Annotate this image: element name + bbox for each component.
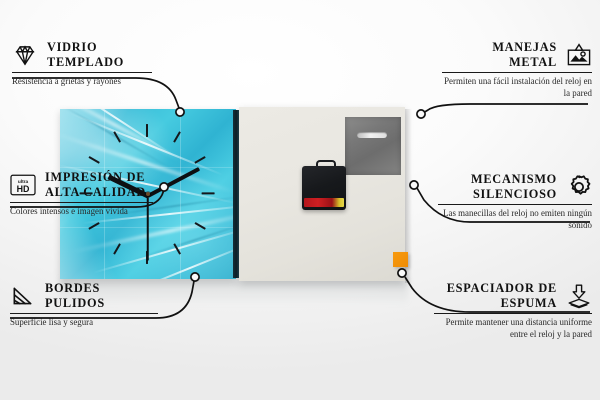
diamond-icon [12, 42, 38, 68]
polished-edges-icon [10, 283, 36, 309]
feature-manejas-metal[interactable]: MANEJAS METAL Permiten una fácil instala… [442, 40, 592, 100]
feature-rule [438, 204, 592, 205]
feature-mecanismo-silencioso[interactable]: MECANISMO SILENCIOSO Las manecillas del … [438, 172, 592, 232]
feature-subtitle: Permiten una fácil instalación del reloj… [442, 76, 592, 100]
feature-subtitle: Colores intensos e imagen vívida [10, 206, 153, 218]
feature-subtitle: Permite mantener una distancia uniforme … [434, 317, 592, 341]
feature-espaciador-espuma[interactable]: ESPACIADOR DE ESPUMA Permite mantener un… [434, 281, 592, 341]
feature-impresion-alta-calidad[interactable]: ultra HD IMPRESIÓN DE ALTA CALIDAD Color… [10, 170, 153, 218]
feature-subtitle: Superficie lisa y segura [10, 317, 158, 329]
feature-title: IMPRESIÓN DE ALTA CALIDAD [45, 170, 153, 199]
clock-tick [202, 192, 215, 194]
feature-rule [12, 72, 152, 73]
foam-spacer-pad [393, 252, 408, 267]
clock-tick [88, 156, 99, 164]
feature-bordes-pulidos[interactable]: BORDES PULIDOS Superficie lisa y segura [10, 281, 158, 329]
clock-tick [88, 222, 99, 230]
gear-icon [566, 174, 592, 200]
clock-tick [194, 156, 205, 164]
infographic-canvas: VIDRIO TEMPLADO Resistencia a grietas y … [0, 0, 600, 400]
feature-rule [10, 313, 158, 314]
foam-spacer-icon [566, 283, 592, 309]
feature-title: VIDRIO TEMPLADO [47, 40, 152, 69]
feature-rule [10, 202, 153, 203]
clock-tick [146, 124, 148, 137]
feature-vidrio-templado[interactable]: VIDRIO TEMPLADO Resistencia a grietas y … [12, 40, 152, 88]
ultra-hd-badge-icon: ultra HD [10, 172, 36, 198]
hanger-slot [357, 132, 387, 138]
feature-title: ESPACIADOR DE ESPUMA [434, 281, 557, 310]
feature-title: MECANISMO SILENCIOSO [438, 172, 557, 201]
aa-battery [304, 198, 344, 207]
picture-hanger-icon [566, 42, 592, 68]
feature-subtitle: Las manecillas del reloj no emiten ningú… [438, 208, 592, 232]
feature-title: BORDES PULIDOS [45, 281, 158, 310]
svg-text:HD: HD [17, 183, 30, 193]
feature-title: MANEJAS METAL [442, 40, 557, 69]
metal-hanger-plate [345, 117, 401, 175]
feature-subtitle: Resistencia a grietas y rayones [12, 76, 152, 88]
feature-rule [434, 313, 592, 314]
feature-rule [442, 72, 592, 73]
clock-tick [113, 243, 121, 254]
